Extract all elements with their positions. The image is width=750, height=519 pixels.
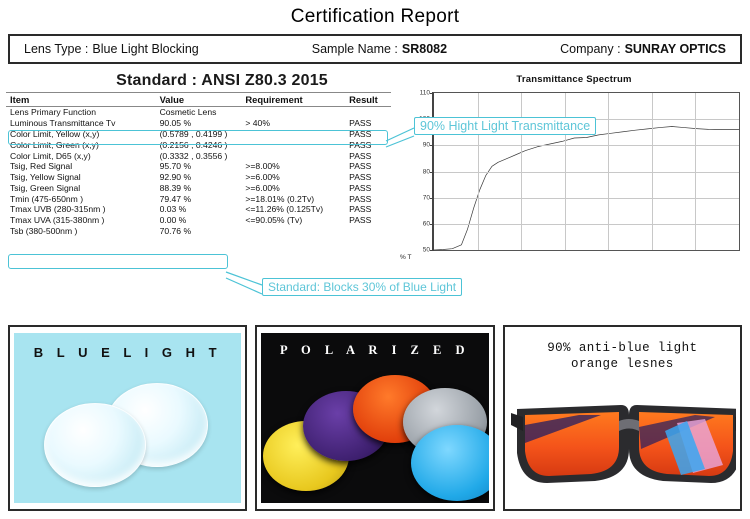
page-title: Certification Report xyxy=(0,0,750,28)
chart-y-tick-mark xyxy=(430,198,434,199)
cell-req xyxy=(245,139,349,150)
chart-y-tick-mark xyxy=(430,224,434,225)
blue-lens-icon xyxy=(411,425,488,501)
chart-y-tick-label: 80 xyxy=(423,168,430,175)
table-row: Tsig, Green Signal88.39 %>=6.00%PASS xyxy=(6,182,391,193)
polarized-caption: P O L A R I Z E D xyxy=(261,333,488,358)
chart-gridline-v xyxy=(695,93,696,250)
lens-type-value: Blue Light Blocking xyxy=(92,42,198,56)
cell-req xyxy=(245,150,349,161)
sample-name-value: SR8082 xyxy=(402,42,447,56)
certification-table-wrap: Standard : ANSI Z80.3 2015 Item Value Re… xyxy=(0,70,398,285)
orange-lens-caption-line1: 90% anti-blue light xyxy=(509,341,736,357)
cell-item: Color Limit, D65 (x,y) xyxy=(6,150,160,161)
cell-result xyxy=(349,226,391,237)
lens-type-label: Lens Type : xyxy=(24,42,88,56)
cell-value: (0.3332 , 0.3556 ) xyxy=(160,150,246,161)
col-header-result: Result xyxy=(349,93,391,107)
y-axis-label: % T xyxy=(400,254,411,261)
callout-blue-light-block: Standard: Blocks 30% of Blue Light xyxy=(262,278,462,296)
chart-gridline-h xyxy=(434,145,739,146)
table-row: Tsig, Yellow Signal92.90 %>=6.00%PASS xyxy=(6,172,391,183)
cell-result: PASS xyxy=(349,182,391,193)
col-header-item: Item xyxy=(6,93,160,107)
cell-result: PASS xyxy=(349,215,391,226)
sample-name-field: Sample Name : SR8082 xyxy=(312,42,447,56)
sunglasses-icon xyxy=(509,391,736,496)
cell-result: PASS xyxy=(349,193,391,204)
chart-y-tick-label: 70 xyxy=(423,194,430,201)
cell-req: >=18.01% (0.2Tv) xyxy=(245,193,349,204)
col-header-requirement: Requirement xyxy=(245,93,349,107)
blue-light-caption: B L U E L I G H T xyxy=(14,333,241,360)
cell-item: Tsig, Yellow Signal xyxy=(6,172,160,183)
cell-value: 79.47 % xyxy=(160,193,246,204)
lens-type-field: Lens Type : Blue Light Blocking xyxy=(10,42,199,56)
chart-y-tick-mark xyxy=(430,250,434,251)
blue-light-panel-image: B L U E L I G H T xyxy=(14,333,241,503)
chart-gridline-v xyxy=(608,93,609,250)
cell-req: >=6.00% xyxy=(245,172,349,183)
table-row: Tmin (475-650nm )79.47 %>=18.01% (0.2Tv)… xyxy=(6,193,391,204)
table-body: Lens Primary FunctionCosmetic LensLumino… xyxy=(6,107,391,237)
chart-y-tick-label: 90 xyxy=(423,142,430,149)
cell-req xyxy=(245,129,349,140)
table-row: Lens Primary FunctionCosmetic Lens xyxy=(6,107,391,118)
cell-item: Lens Primary Function xyxy=(6,107,160,118)
company-value: SUNRAY OPTICS xyxy=(625,42,726,56)
table-row: Luminous Transmittance Tv90.05 %> 40%PAS… xyxy=(6,118,391,129)
cell-result: PASS xyxy=(349,204,391,215)
chart-plot-area: 5060708090100110 xyxy=(432,92,740,251)
company-field: Company : SUNRAY OPTICS xyxy=(560,42,740,56)
cell-value: 95.70 % xyxy=(160,161,246,172)
table-row: Color Limit, D65 (x,y)(0.3332 , 0.3556 )… xyxy=(6,150,391,161)
cell-item: Tmax UVA (315-380nm ) xyxy=(6,215,160,226)
chart-y-tick-label: 50 xyxy=(423,247,430,254)
cell-result: PASS xyxy=(349,129,391,140)
chart-y-tick-mark xyxy=(430,93,434,94)
chart-y-tick-label: 60 xyxy=(423,220,430,227)
cell-result: PASS xyxy=(349,161,391,172)
cell-req xyxy=(245,226,349,237)
cell-result: PASS xyxy=(349,172,391,183)
cell-req xyxy=(245,107,349,118)
polarized-panel-image: P O L A R I Z E D xyxy=(261,333,488,503)
blue-light-panel: B L U E L I G H T xyxy=(8,325,247,511)
table-row: Tmax UVA (315-380nm )0.00 %<=90.05% (Tv)… xyxy=(6,215,391,226)
chart-y-tick-mark xyxy=(430,172,434,173)
cell-value: 90.05 % xyxy=(160,118,246,129)
table-row: Color Limit, Yellow (x,y)(0.5789 , 0.419… xyxy=(6,129,391,140)
chart-gridline-h xyxy=(434,172,739,173)
cell-value: 88.39 % xyxy=(160,182,246,193)
cell-value: (0.5789 , 0.4199 ) xyxy=(160,129,246,140)
cell-item: Color Limit, Green (x,y) xyxy=(6,139,160,150)
clear-lens-front-icon xyxy=(44,403,146,487)
cell-result: PASS xyxy=(349,139,391,150)
polarized-panel: P O L A R I Z E D xyxy=(255,325,494,511)
chart-gridline-h xyxy=(434,224,739,225)
cell-value: 92.90 % xyxy=(160,172,246,183)
transmittance-chart: Transmittance Spectrum 5060708090100110 … xyxy=(398,70,750,285)
cell-req: > 40% xyxy=(245,118,349,129)
col-header-value: Value xyxy=(160,93,246,107)
callout-high-transmittance: 90% Hight Light Transmittance xyxy=(414,117,596,135)
product-panels: B L U E L I G H T P O L A R I Z E D 90% … xyxy=(8,325,742,511)
report-header-bar: Lens Type : Blue Light Blocking Sample N… xyxy=(8,34,742,64)
cell-item: Tsig, Red Signal xyxy=(6,161,160,172)
certification-table: Item Value Requirement Result Lens Prima… xyxy=(6,92,391,236)
table-row: Tsig, Red Signal95.70 %>=8.00%PASS xyxy=(6,161,391,172)
cell-value: 0.03 % xyxy=(160,204,246,215)
table-row: Tmax UVB (280-315nm )0.03 %<=11.26% (0.1… xyxy=(6,204,391,215)
cell-value: 70.76 % xyxy=(160,226,246,237)
chart-title: Transmittance Spectrum xyxy=(398,70,750,85)
sample-name-label: Sample Name : xyxy=(312,42,398,56)
cell-result xyxy=(349,107,391,118)
orange-lens-caption-line2: orange lesnes xyxy=(509,357,736,373)
table-header-row: Item Value Requirement Result xyxy=(6,93,391,107)
chart-y-tick-label: 110 xyxy=(420,90,430,97)
cell-item: Tsb (380-500nm ) xyxy=(6,226,160,237)
cell-item: Tsig, Green Signal xyxy=(6,182,160,193)
cell-result: PASS xyxy=(349,150,391,161)
chart-gridline-h xyxy=(434,198,739,199)
highlight-box-tsb xyxy=(8,254,228,269)
cell-req: >=6.00% xyxy=(245,182,349,193)
cell-req: >=8.00% xyxy=(245,161,349,172)
orange-lens-panel-image: 90% anti-blue light orange lesnes xyxy=(509,333,736,503)
orange-lens-panel: 90% anti-blue light orange lesnes xyxy=(503,325,742,511)
table-row: Color Limit, Green (x,y)(0.2156 , 0.4246… xyxy=(6,139,391,150)
table-row: Tsb (380-500nm )70.76 % xyxy=(6,226,391,237)
cell-value: 0.00 % xyxy=(160,215,246,226)
report-body: Standard : ANSI Z80.3 2015 Item Value Re… xyxy=(0,70,750,285)
cell-req: <=11.26% (0.125Tv) xyxy=(245,204,349,215)
company-label: Company : xyxy=(560,42,620,56)
orange-lens-caption: 90% anti-blue light orange lesnes xyxy=(509,333,736,372)
cell-value: (0.2156 , 0.4246 ) xyxy=(160,139,246,150)
chart-gridline-v xyxy=(652,93,653,250)
cell-item: Tmin (475-650nm ) xyxy=(6,193,160,204)
cell-item: Color Limit, Yellow (x,y) xyxy=(6,129,160,140)
standard-title: Standard : ANSI Z80.3 2015 xyxy=(6,70,398,92)
cell-req: <=90.05% (Tv) xyxy=(245,215,349,226)
cell-value: Cosmetic Lens xyxy=(160,107,246,118)
cell-item: Luminous Transmittance Tv xyxy=(6,118,160,129)
cell-result: PASS xyxy=(349,118,391,129)
cell-item: Tmax UVB (280-315nm ) xyxy=(6,204,160,215)
chart-y-tick-mark xyxy=(430,145,434,146)
